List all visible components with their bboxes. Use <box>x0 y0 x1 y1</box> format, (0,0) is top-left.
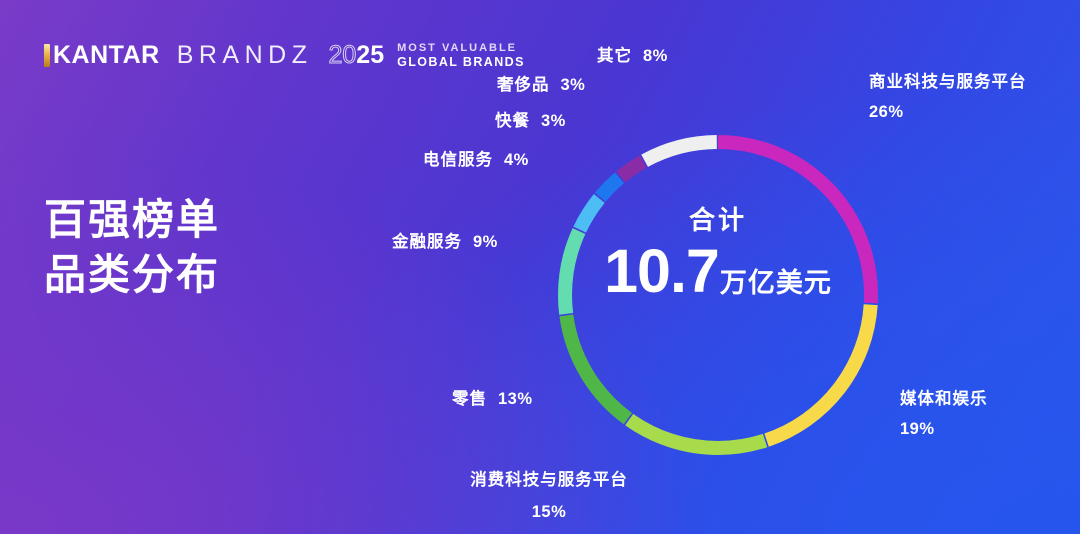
logo-tagline: MOST VALUABLE GLOBAL BRANDS <box>397 41 525 69</box>
slice-percent: 8% <box>643 47 668 66</box>
kantar-brandz-logo: KANTAR BRANDZ 20 25 MOST VALUABLE GLOBAL… <box>44 40 525 70</box>
slice-percent: 3% <box>541 112 566 131</box>
page-title-line1: 百强榜单 <box>44 192 220 247</box>
slice-label-financial-services: 金融服务 9% <box>392 228 498 252</box>
slice-percent: 19% <box>900 420 988 439</box>
tagline-line1: MOST VALUABLE <box>397 42 525 55</box>
slice-name: 消费科技与服务平台 <box>470 470 628 489</box>
slice-label-fast-food: 快餐 3% <box>495 107 566 131</box>
slice-label-media-entertainment: 媒体和娱乐 19% <box>900 385 988 439</box>
slice-percent: 13% <box>498 390 533 409</box>
slice-name: 电信服务 <box>423 146 493 170</box>
slice-percent: 15% <box>459 503 639 522</box>
kantar-bar-icon <box>44 44 50 67</box>
slice-name: 零售 <box>452 385 487 409</box>
page-title-line2: 品类分布 <box>44 247 220 302</box>
slice-name: 商业科技与服务平台 <box>869 72 1027 91</box>
year-badge: 20 25 <box>328 43 384 68</box>
slice-name: 媒体和娱乐 <box>900 389 988 408</box>
slice-name: 金融服务 <box>392 228 462 252</box>
tagline-line2: GLOBAL BRANDS <box>397 55 525 69</box>
slice-percent: 3% <box>561 76 586 95</box>
slice-label-business-tech: 商业科技与服务平台 26% <box>869 68 1027 122</box>
slice-name: 快餐 <box>495 107 530 131</box>
slice-label-other: 其它 8% <box>597 42 668 66</box>
brandz-wordmark: BRANDZ <box>177 43 313 68</box>
year-suffix: 25 <box>356 43 384 68</box>
year-prefix: 20 <box>328 43 356 68</box>
slice-label-consumer-tech: 消费科技与服务平台 15% <box>459 466 639 522</box>
slice-name: 其它 <box>597 42 632 66</box>
slice-name: 奢侈品 <box>497 71 550 95</box>
kantar-wordmark: KANTAR <box>53 43 160 68</box>
page-title: 百强榜单 品类分布 <box>44 192 220 302</box>
slice-percent: 9% <box>473 233 498 252</box>
slice-label-telecom: 电信服务 4% <box>423 146 529 170</box>
slice-label-retail: 零售 13% <box>452 385 533 409</box>
slide-canvas: KANTAR BRANDZ 20 25 MOST VALUABLE GLOBAL… <box>0 0 1080 534</box>
donut-svg <box>538 115 898 475</box>
donut-chart <box>538 115 898 475</box>
slice-percent: 4% <box>504 151 529 170</box>
slice-label-luxury: 奢侈品 3% <box>497 71 585 95</box>
slice-percent: 26% <box>869 103 1027 122</box>
